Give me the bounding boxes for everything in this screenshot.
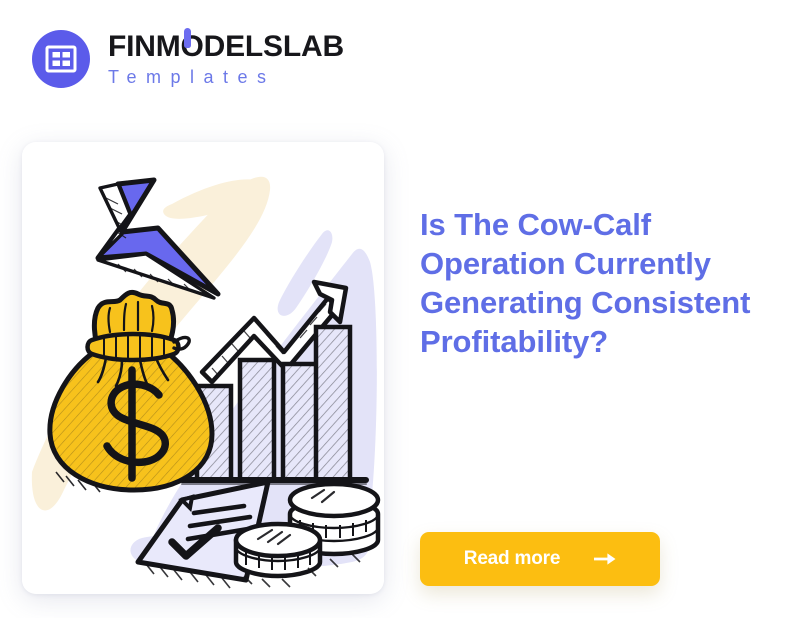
brand-text-block: FINMODELSLAB Templates [108,32,344,86]
brand-name-text: FINMODELSLAB [108,30,344,63]
illustration-card [22,142,384,594]
arrow-right-icon [594,552,616,566]
map-pin-icon [184,28,191,48]
page-title: Is The Cow-Calf Operation Currently Gene… [420,205,770,361]
brand-mark-circle [32,30,90,88]
read-more-label: Read more [464,548,560,570]
brand-name: FINMODELSLAB [108,32,344,63]
finance-profitability-illustration [22,142,384,594]
coin-stack-short [236,524,320,576]
brand-logo[interactable]: FINMODELSLAB Templates [32,30,344,88]
read-more-button[interactable]: Read more [420,532,660,586]
grid-2x2-icon [45,45,77,73]
brand-subtitle: Templates [108,68,344,86]
